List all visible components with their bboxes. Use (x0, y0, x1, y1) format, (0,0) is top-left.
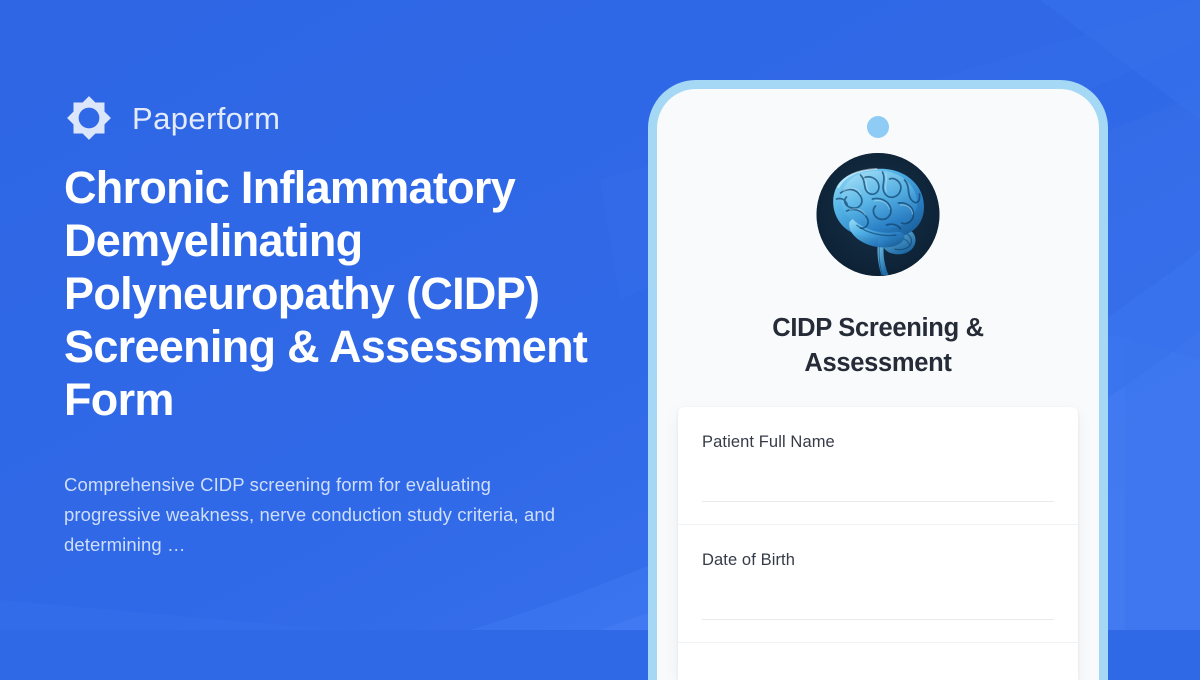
brand-name: Paperform (132, 103, 280, 134)
camera-dot-icon (867, 116, 889, 138)
brain-icon (817, 153, 940, 276)
form-field-patient-full-name[interactable]: Patient Full Name (678, 407, 1078, 525)
form-card: Patient Full Name Date of Birth (678, 407, 1078, 680)
page-title: Chronic Inflammatory Demyelinating Polyn… (64, 162, 634, 426)
form-field-next-partial[interactable] (678, 643, 1078, 680)
field-label: Patient Full Name (702, 433, 1054, 452)
phone-mockup: CIDP Screening & Assessment Patient Full… (648, 80, 1108, 680)
field-label: Date of Birth (702, 551, 1054, 570)
form-field-date-of-birth[interactable]: Date of Birth (678, 525, 1078, 643)
brand-logo[interactable]: Paperform (64, 91, 280, 145)
paperform-logo-icon (64, 93, 114, 143)
field-underline (702, 501, 1054, 502)
field-underline (702, 619, 1054, 620)
form-title: CIDP Screening & Assessment (657, 311, 1099, 381)
hero-content: Paperform Chronic Inflammatory Demyelina… (64, 0, 644, 630)
page-subtitle: Comprehensive CIDP screening form for ev… (64, 470, 584, 560)
